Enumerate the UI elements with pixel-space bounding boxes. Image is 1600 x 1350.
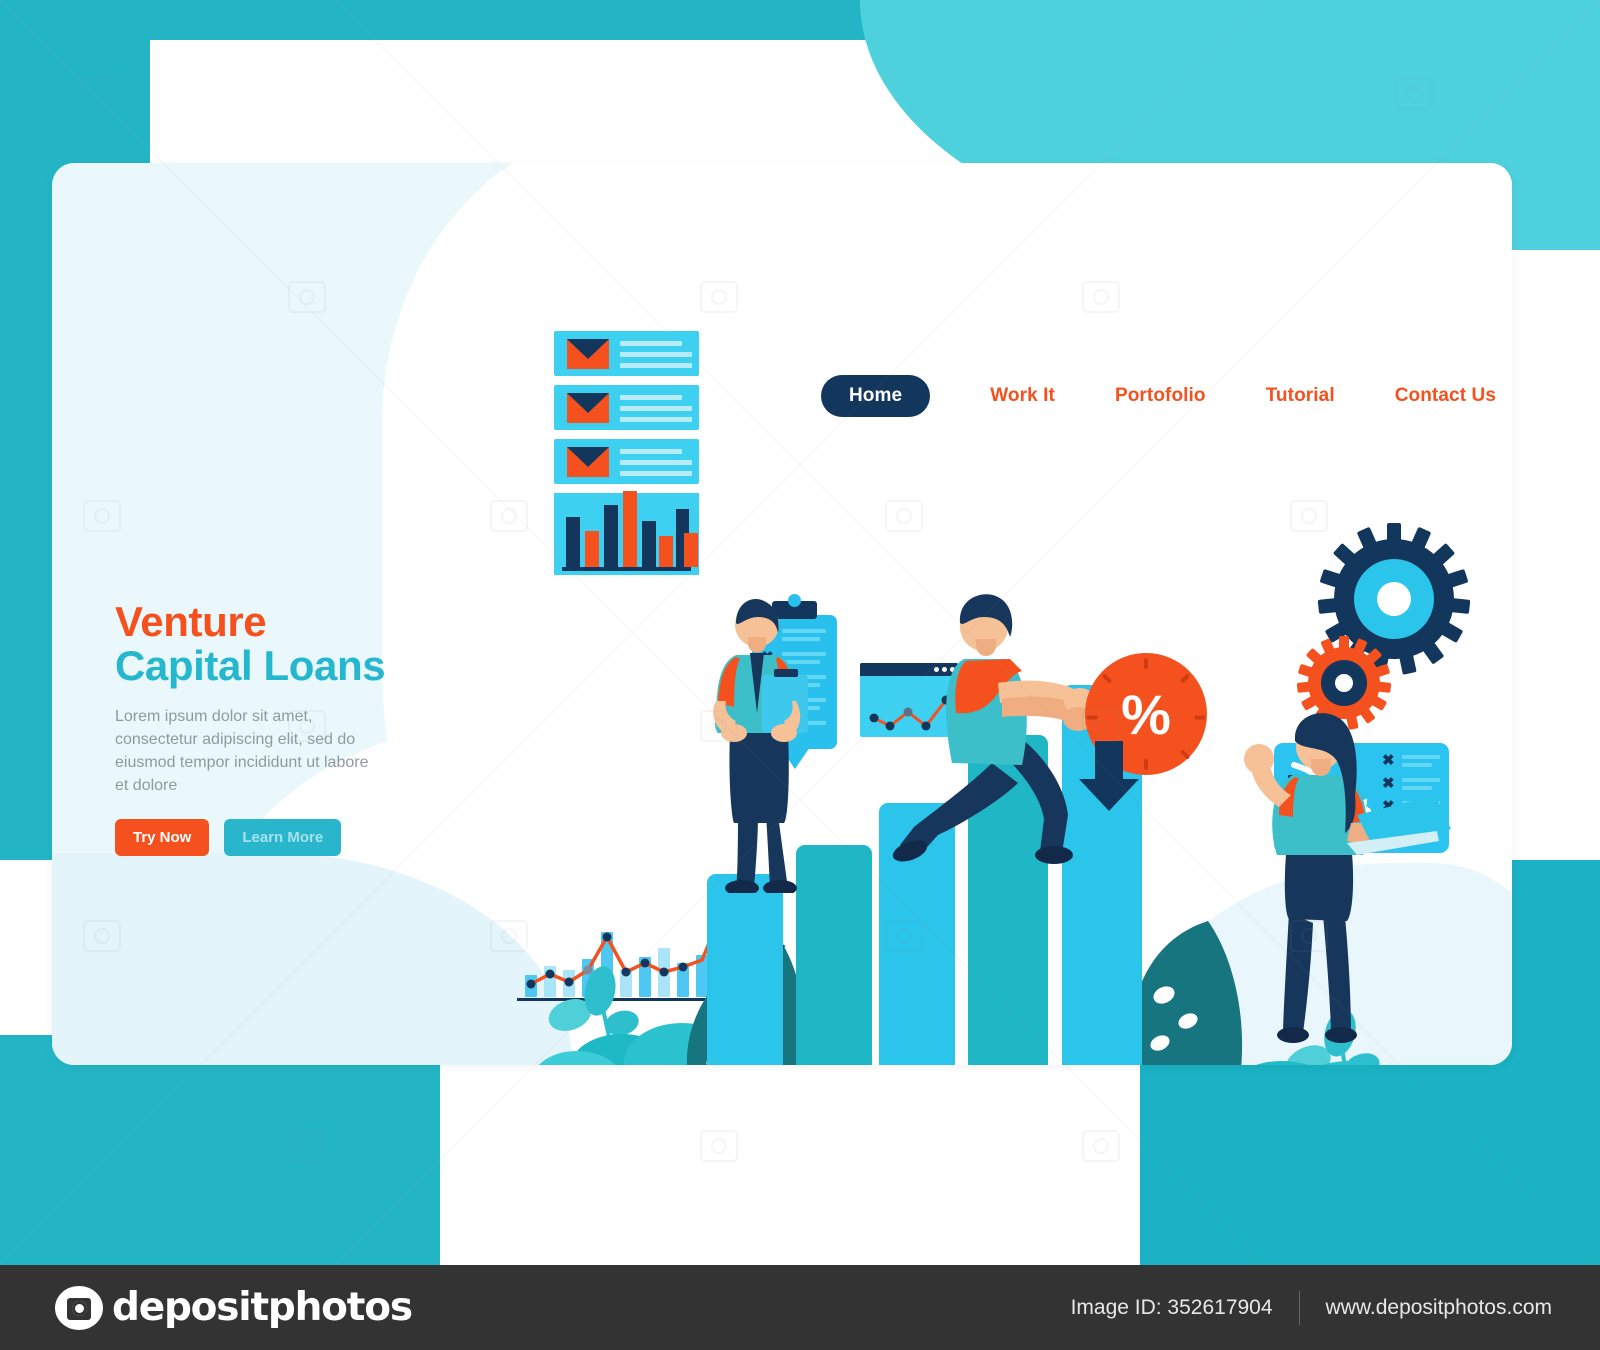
badge-tick bbox=[1144, 658, 1148, 669]
badge-tick bbox=[1180, 673, 1191, 684]
envelope-icon bbox=[567, 339, 609, 369]
hero-text-block: Venture Capital Loans Lorem ipsum dolor … bbox=[115, 600, 445, 856]
hero-button-row: Try Now Learn More bbox=[115, 819, 445, 856]
mail-text-line bbox=[620, 395, 682, 400]
footer-meta: Image ID: 352617904 www.depositphotos.co… bbox=[1071, 1291, 1552, 1325]
bar bbox=[684, 533, 698, 567]
person-with-clipboard bbox=[692, 583, 822, 893]
growth-bar bbox=[707, 874, 783, 1065]
nav-item-tutorial[interactable]: Tutorial bbox=[1266, 385, 1335, 407]
nav-item-portofolio[interactable]: Portofolio bbox=[1115, 385, 1206, 407]
nav-item-contact-us[interactable]: Contact Us bbox=[1395, 385, 1496, 407]
mail-text-line bbox=[620, 449, 682, 454]
mail-text-line bbox=[620, 460, 692, 465]
person-with-laptop bbox=[1207, 703, 1457, 1053]
badge-tick bbox=[1087, 716, 1098, 720]
nav-list: Home Work It Portofolio Tutorial Contact… bbox=[821, 375, 1496, 417]
page-title: Venture Capital Loans bbox=[115, 600, 445, 688]
bar-wrap bbox=[684, 527, 699, 575]
badge-tick bbox=[1180, 749, 1191, 760]
mail-card bbox=[554, 439, 699, 484]
mail-card bbox=[554, 385, 699, 430]
bar bbox=[623, 491, 637, 567]
bar bbox=[566, 517, 580, 567]
bar-chart-panel bbox=[554, 493, 699, 575]
brand-name: depositphotos bbox=[112, 1285, 412, 1330]
mail-text-line bbox=[620, 352, 692, 357]
percent-symbol: % bbox=[1121, 682, 1171, 747]
camera-icon bbox=[55, 1286, 103, 1330]
envelope-icon bbox=[567, 393, 609, 423]
try-now-button[interactable]: Try Now bbox=[115, 819, 209, 856]
badge-tick bbox=[1102, 673, 1113, 684]
hero-paragraph: Lorem ipsum dolor sit amet, consectetur … bbox=[115, 705, 370, 797]
depositphotos-logo: depositphotos bbox=[55, 1285, 412, 1330]
website-label: www.depositphotos.com bbox=[1326, 1296, 1552, 1320]
bar-baseline bbox=[562, 567, 691, 571]
mail-text-line bbox=[620, 471, 692, 476]
envelope-icon bbox=[567, 447, 609, 477]
page-title-line2: Capital Loans bbox=[115, 644, 445, 688]
learn-more-button[interactable]: Learn More bbox=[224, 819, 341, 856]
bar bbox=[585, 531, 599, 567]
bar bbox=[604, 505, 618, 567]
arrow-down-icon bbox=[1077, 741, 1141, 813]
image-id-label: Image ID: 352617904 bbox=[1071, 1296, 1273, 1320]
footer-divider bbox=[1299, 1291, 1300, 1325]
mail-text-line bbox=[620, 363, 692, 368]
badge-tick bbox=[1144, 759, 1148, 770]
main-navigation: Home Work It Portofolio Tutorial Contact… bbox=[52, 375, 1512, 417]
nav-item-work-it[interactable]: Work It bbox=[990, 385, 1055, 407]
footer-watermark-bar: depositphotos Image ID: 352617904 www.de… bbox=[0, 1265, 1600, 1350]
mail-text-line bbox=[620, 406, 692, 411]
mail-text-line bbox=[620, 341, 682, 346]
bar bbox=[659, 536, 673, 567]
page-title-line1: Venture bbox=[115, 600, 445, 644]
mail-text-line bbox=[620, 417, 692, 422]
bar bbox=[642, 521, 656, 567]
screenshot-stage: Home Work It Portofolio Tutorial Contact… bbox=[0, 0, 1600, 1350]
badge-tick bbox=[1195, 716, 1206, 720]
landing-page-card: Home Work It Portofolio Tutorial Contact… bbox=[52, 163, 1512, 1065]
nav-item-home[interactable]: Home bbox=[821, 375, 930, 417]
mail-card bbox=[554, 331, 699, 376]
